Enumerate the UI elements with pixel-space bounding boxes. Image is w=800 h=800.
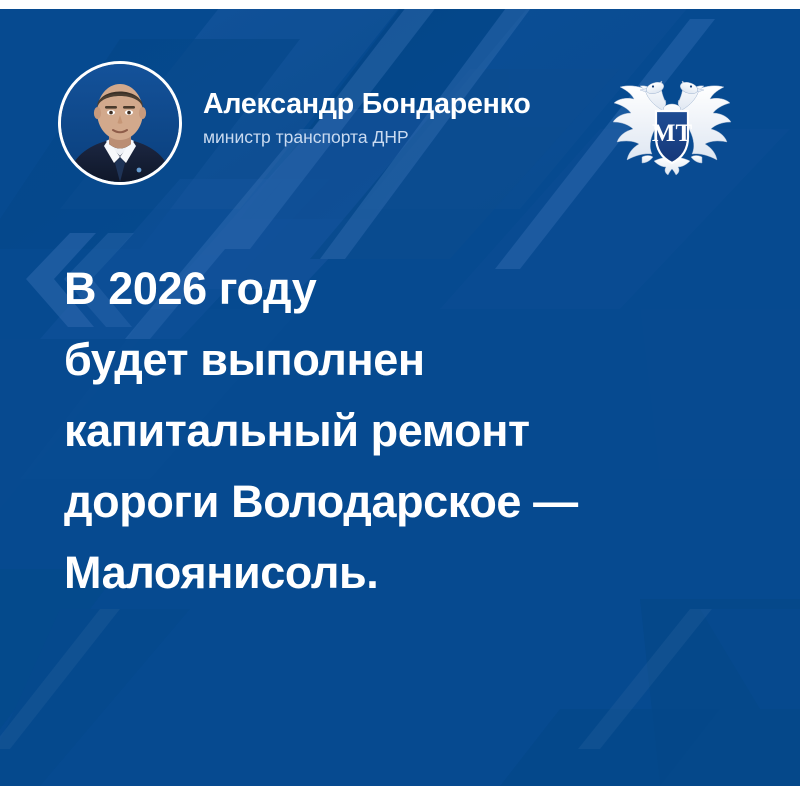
quote-text: В 2026 году будет выполнен капитальный р… [64,253,764,608]
quote-line: Малояниcоль. [64,537,764,608]
shield-label: МТ [652,120,693,147]
person-portrait-icon [61,64,179,182]
person-name: Александр Бондаренко [203,89,603,120]
quote-line: дороги Володарское — [64,466,764,537]
card-header: Александр Бондаренко министр транспорта … [0,9,800,209]
quote-line: В 2026 году [64,253,764,324]
quote-line: капитальный ремонт [64,395,764,466]
avatar [58,61,182,185]
double-headed-eagle-emblem-icon: МТ [608,57,736,185]
person-role: министр транспорта ДНР [203,127,603,147]
person-info: Александр Бондаренко министр транспорта … [203,89,603,147]
quote-line: будет выполнен [64,324,764,395]
quote-card: Александр Бондаренко министр транспорта … [0,9,800,786]
ministry-emblem: МТ [608,57,736,185]
